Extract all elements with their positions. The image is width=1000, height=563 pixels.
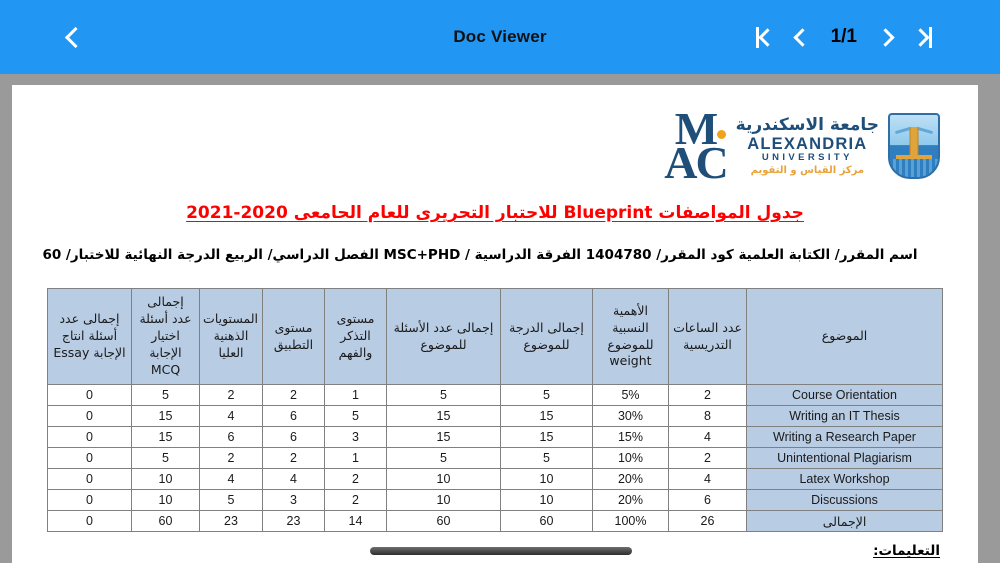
cell-mark_total: 5 <box>501 385 593 406</box>
blueprint-table: إجمالى عدد أسئلة انتاج الإجابة Essayإجما… <box>47 288 943 532</box>
last-page-icon <box>914 27 932 48</box>
chevron-left-icon <box>793 28 811 46</box>
cell-apply_level: 4 <box>263 469 325 490</box>
cell-mcq_total: 15 <box>132 427 200 448</box>
cell-essay_total: 0 <box>48 511 132 532</box>
university-name-arabic: جامعة الاسكندرية <box>736 117 879 134</box>
cell-mark_total: 5 <box>501 448 593 469</box>
table-row: 015663151515%4Writing a Research Paper <box>48 427 943 448</box>
cell-higher_levels: 2 <box>200 448 263 469</box>
cell-essay_total: 0 <box>48 490 132 511</box>
cell-apply_level: 6 <box>263 427 325 448</box>
mac-logo-ac: AC <box>664 143 726 183</box>
app-bar: Doc Viewer 1/1 <box>0 0 1000 74</box>
cell-mark_total: 60 <box>501 511 593 532</box>
cell-apply_level: 3 <box>263 490 325 511</box>
cell-mcq_total: 5 <box>132 385 200 406</box>
cell-weight: 5% <box>593 385 669 406</box>
cell-teach_hours: 26 <box>669 511 747 532</box>
cell-apply_level: 2 <box>263 448 325 469</box>
cell-recall_level: 2 <box>325 490 387 511</box>
column-header-mark_total: إجمالى الدرجة للموضوع <box>501 289 593 385</box>
first-page-icon <box>756 27 774 48</box>
cell-topic: Writing an IT Thesis <box>747 406 943 427</box>
cell-weight: 100% <box>593 511 669 532</box>
cell-q_total: 5 <box>387 385 501 406</box>
cell-apply_level: 6 <box>263 406 325 427</box>
cell-essay_total: 0 <box>48 448 132 469</box>
cell-higher_levels: 23 <box>200 511 263 532</box>
cell-topic: Unintentional Plagiarism <box>747 448 943 469</box>
center-name-arabic: مركز القياس و التقويم <box>736 166 879 176</box>
cell-q_total: 60 <box>387 511 501 532</box>
document-subtitle: اسم المقرر/ الكتابة العلمية كود المقرر/ … <box>12 247 948 263</box>
cell-mark_total: 15 <box>501 427 593 448</box>
cell-weight: 15% <box>593 427 669 448</box>
horizontal-scrollbar[interactable] <box>370 547 632 555</box>
cell-q_total: 10 <box>387 490 501 511</box>
cell-weight: 30% <box>593 406 669 427</box>
cell-mcq_total: 10 <box>132 469 200 490</box>
back-button[interactable] <box>45 7 105 67</box>
table-row: 05221555%2Course Orientation <box>48 385 943 406</box>
first-page-button[interactable] <box>746 14 784 60</box>
mac-logo-dot-icon <box>717 130 726 139</box>
table-header: إجمالى عدد أسئلة انتاج الإجابة Essayإجما… <box>48 289 943 385</box>
cell-higher_levels: 4 <box>200 406 263 427</box>
university-wordmark: جامعة الاسكندرية ALEXANDRIA UNIVERSITY م… <box>736 117 879 176</box>
cell-weight: 20% <box>593 490 669 511</box>
cell-topic: Course Orientation <box>747 385 943 406</box>
cell-teach_hours: 8 <box>669 406 747 427</box>
cell-weight: 20% <box>593 469 669 490</box>
column-header-teach_hours: عدد الساعات التدريسية <box>669 289 747 385</box>
cell-recall_level: 2 <box>325 469 387 490</box>
document-viewer[interactable]: M AC جامعة الاسكندرية ALEXANDRIA UNIVERS… <box>0 74 1000 563</box>
cell-apply_level: 23 <box>263 511 325 532</box>
table-row: 010532101020%6Discussions <box>48 490 943 511</box>
alexandria-lighthouse-shield-icon <box>888 113 940 179</box>
cell-mcq_total: 15 <box>132 406 200 427</box>
table-row: 015465151530%8Writing an IT Thesis <box>48 406 943 427</box>
cell-teach_hours: 6 <box>669 490 747 511</box>
chevron-right-icon <box>876 28 894 46</box>
page-navigation: 1/1 <box>746 0 942 74</box>
university-subtitle-en: UNIVERSITY <box>736 153 879 163</box>
cell-higher_levels: 4 <box>200 469 263 490</box>
chevron-left-icon <box>64 26 85 47</box>
column-header-recall_level: مستوى التذكر والفهم <box>325 289 387 385</box>
table-row: 010442101020%4Latex Workshop <box>48 469 943 490</box>
cell-q_total: 15 <box>387 427 501 448</box>
institution-logo: M AC جامعة الاسكندرية ALEXANDRIA UNIVERS… <box>664 109 940 183</box>
cell-topic: الإجمالى <box>747 511 943 532</box>
cell-essay_total: 0 <box>48 427 132 448</box>
cell-q_total: 10 <box>387 469 501 490</box>
column-header-apply_level: مستوى التطبيق <box>263 289 325 385</box>
table-body: 05221555%2Course Orientation015465151530… <box>48 385 943 532</box>
column-header-topic: الموضوع <box>747 289 943 385</box>
cell-mcq_total: 10 <box>132 490 200 511</box>
mac-logo: M AC <box>664 109 726 183</box>
table-row: 0602323146060100%26الإجمالى <box>48 511 943 532</box>
column-header-higher_levels: المستويات الذهنية العليا <box>200 289 263 385</box>
cell-teach_hours: 2 <box>669 448 747 469</box>
cell-q_total: 5 <box>387 448 501 469</box>
cell-weight: 10% <box>593 448 669 469</box>
cell-topic: Writing a Research Paper <box>747 427 943 448</box>
document-page: M AC جامعة الاسكندرية ALEXANDRIA UNIVERS… <box>12 85 978 563</box>
column-header-mcq_total: إجمالى عدد أسئلة اختيار الإجابة MCQ <box>132 289 200 385</box>
column-header-essay_total: إجمالى عدد أسئلة انتاج الإجابة Essay <box>48 289 132 385</box>
cell-topic: Latex Workshop <box>747 469 943 490</box>
document-title: جدول المواصفات Blueprint للاحتبار التحري… <box>12 203 978 223</box>
cell-mark_total: 15 <box>501 406 593 427</box>
cell-recall_level: 14 <box>325 511 387 532</box>
table-header-row: إجمالى عدد أسئلة انتاج الإجابة Essayإجما… <box>48 289 943 385</box>
cell-essay_total: 0 <box>48 469 132 490</box>
cell-higher_levels: 6 <box>200 427 263 448</box>
cell-recall_level: 5 <box>325 406 387 427</box>
next-page-button[interactable] <box>866 14 904 60</box>
cell-recall_level: 3 <box>325 427 387 448</box>
cell-recall_level: 1 <box>325 448 387 469</box>
cell-mark_total: 10 <box>501 490 593 511</box>
previous-page-button[interactable] <box>784 14 822 60</box>
last-page-button[interactable] <box>904 14 942 60</box>
column-header-weight: الأهمية النسبية للموضوع weight <box>593 289 669 385</box>
cell-apply_level: 2 <box>263 385 325 406</box>
university-name-en: ALEXANDRIA <box>736 136 879 153</box>
page-indicator: 1/1 <box>822 26 866 48</box>
cell-teach_hours: 2 <box>669 385 747 406</box>
cell-topic: Discussions <box>747 490 943 511</box>
instructions-label: التعليمات: <box>873 543 940 559</box>
cell-teach_hours: 4 <box>669 469 747 490</box>
cell-higher_levels: 5 <box>200 490 263 511</box>
cell-mark_total: 10 <box>501 469 593 490</box>
cell-teach_hours: 4 <box>669 427 747 448</box>
cell-essay_total: 0 <box>48 406 132 427</box>
cell-mcq_total: 5 <box>132 448 200 469</box>
cell-mcq_total: 60 <box>132 511 200 532</box>
column-header-q_total: إجمالى عدد الأسئلة للموضوع <box>387 289 501 385</box>
cell-recall_level: 1 <box>325 385 387 406</box>
table-row: 052215510%2Unintentional Plagiarism <box>48 448 943 469</box>
cell-essay_total: 0 <box>48 385 132 406</box>
cell-higher_levels: 2 <box>200 385 263 406</box>
cell-q_total: 15 <box>387 406 501 427</box>
